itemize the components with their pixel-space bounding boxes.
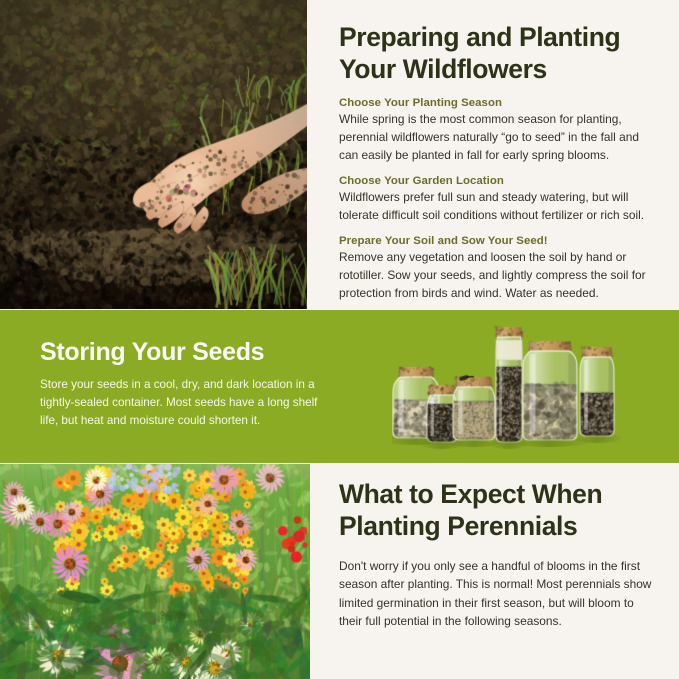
subhead-planting-season: Choose Your Planting Season (339, 97, 659, 109)
what-to-expect-body: Don't worry if you only see a handful of… (339, 557, 659, 631)
page-title-line1: Preparing and Planting (339, 22, 620, 52)
hand-planting-seeds-photo (0, 0, 307, 309)
body-garden-location: Wildflowers prefer full sun and steady w… (339, 188, 659, 224)
what-to-expect-title-line1: What to Expect When (339, 479, 602, 509)
group-planting-season: Choose Your Planting Season While spring… (339, 97, 659, 164)
group-garden-location: Choose Your Garden Location Wildflowers … (339, 175, 659, 224)
storing-seeds-band: Storing Your Seeds Store your seeds in a… (0, 310, 679, 463)
what-to-expect-section: What to Expect When Planting Perennials … (339, 479, 659, 630)
what-to-expect-title: What to Expect When Planting Perennials (339, 479, 659, 543)
wildflower-meadow-photo (0, 464, 310, 679)
storing-seeds-title: Storing Your Seeds (40, 338, 264, 367)
seed-jars-photo (392, 318, 637, 456)
subhead-prepare-soil: Prepare Your Soil and Sow Your Seed! (339, 235, 659, 247)
storing-seeds-body: Store your seeds in a cool, dry, and dar… (40, 376, 328, 430)
infographic-page: Preparing and Planting Your Wildflowers … (0, 0, 679, 679)
group-prepare-soil: Prepare Your Soil and Sow Your Seed! Rem… (339, 235, 659, 302)
what-to-expect-title-line2: Planting Perennials (339, 511, 659, 543)
preparing-planting-section: Preparing and Planting Your Wildflowers … (339, 22, 659, 302)
subhead-garden-location: Choose Your Garden Location (339, 175, 659, 187)
body-planting-season: While spring is the most common season f… (339, 110, 659, 164)
body-prepare-soil: Remove any vegetation and loosen the soi… (339, 248, 659, 302)
page-title: Preparing and Planting Your Wildflowers (339, 22, 659, 86)
page-title-line2: Your Wildflowers (339, 54, 659, 86)
